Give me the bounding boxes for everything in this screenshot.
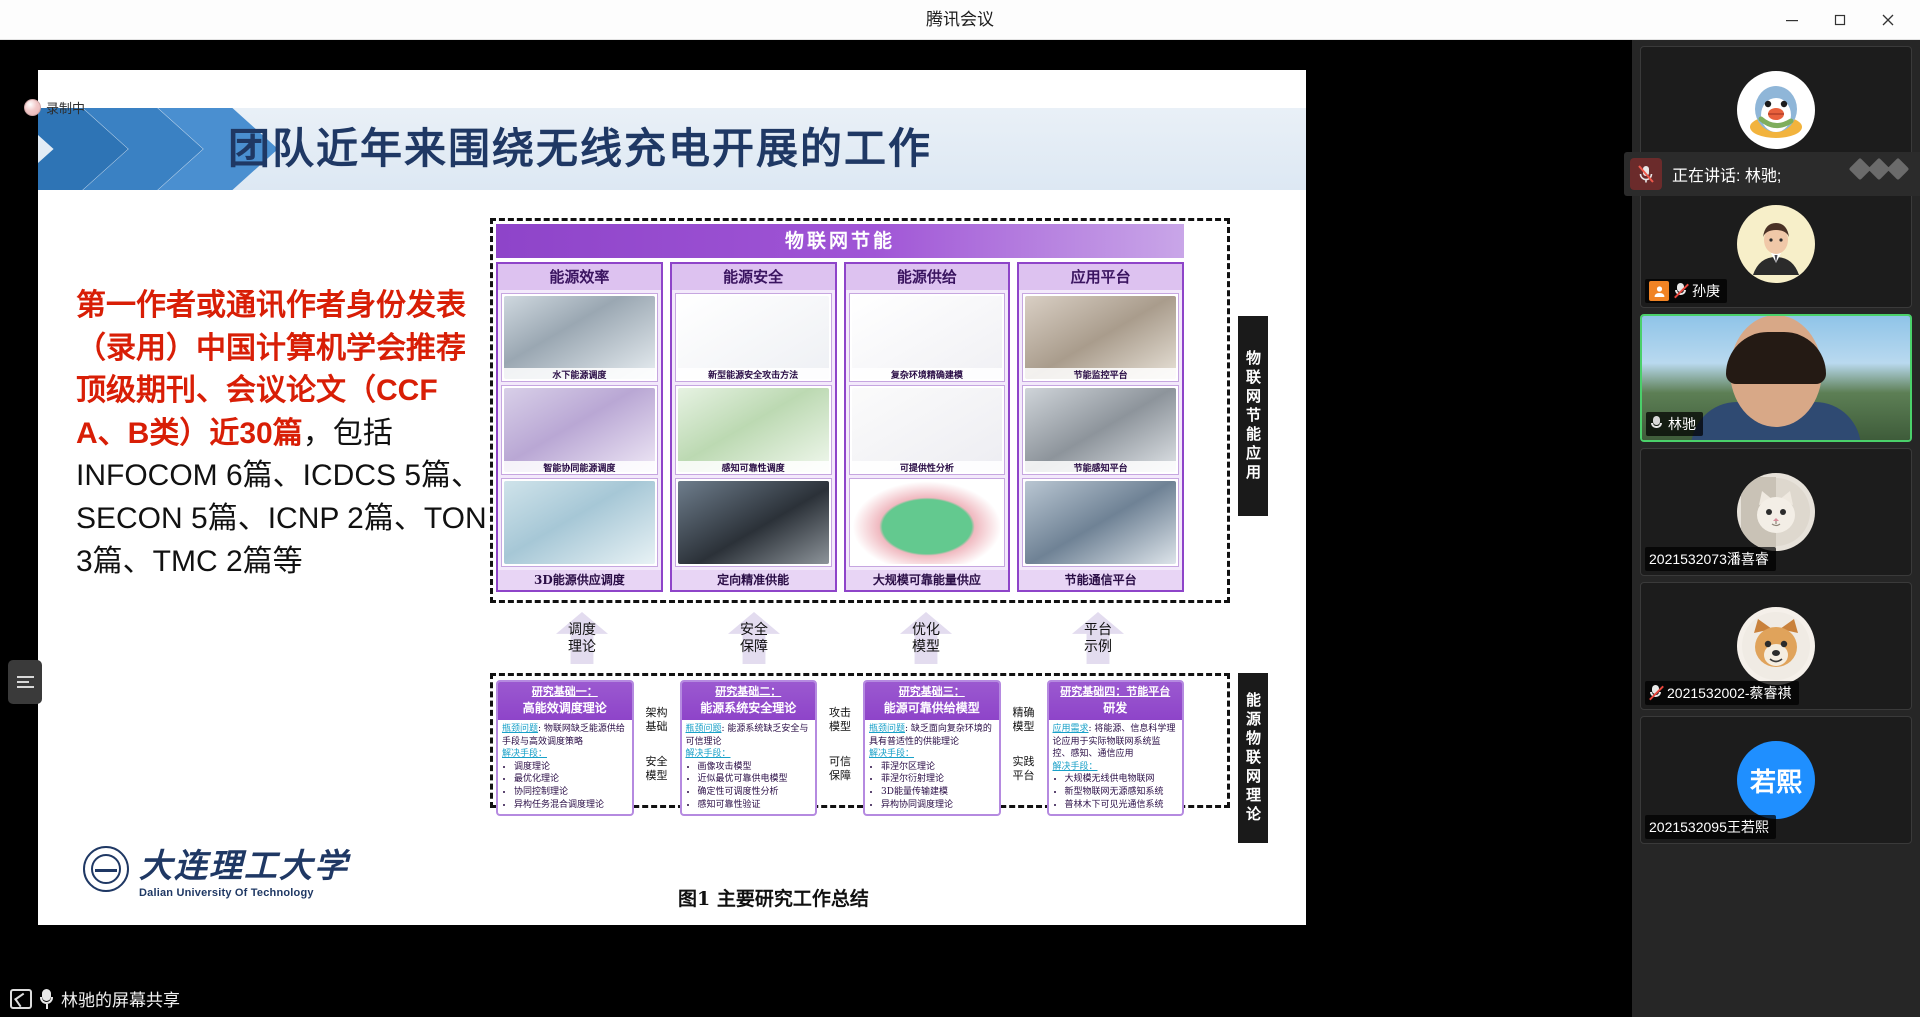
maximize-button[interactable] [1818, 3, 1862, 37]
diagram-image-cell [849, 478, 1006, 567]
participant-name-tag: 林驰 [1646, 412, 1703, 436]
foundation-solution-label: 解决手段： [686, 749, 731, 759]
participant-name-tag: 孙庚 [1645, 279, 1727, 303]
meeting-stage: 录制中 团队近年来围绕无线充电开展的工作 第一作者或通讯作者身份发表（录用）中国… [0, 40, 1632, 1017]
participant-tile[interactable]: 2021532002-蔡睿祺 [1640, 582, 1912, 710]
cell-caption: 水下能源调度 [502, 368, 657, 381]
avatar [1737, 205, 1815, 283]
cell-caption: 节能监控平台 [1023, 368, 1178, 381]
avatar-initials: 若熙 [1750, 762, 1802, 799]
speaking-banner: 正在讲话: 林驰; [1624, 152, 1920, 196]
slide-title: 团队近年来围绕无线充电开展的工作 [228, 108, 932, 190]
column-header: 能源供给 [846, 264, 1009, 290]
diagram-image-cell: 节能监控平台 [1022, 293, 1179, 382]
foundation-item: 异构协同调度理论 [881, 799, 995, 812]
column-header: 应用平台 [1019, 264, 1182, 290]
column-footer: 3D能源供应调度 [498, 570, 661, 590]
screen-share-icon [10, 989, 32, 1009]
foundation-item: 感知可靠性验证 [698, 799, 812, 812]
column-footer: 大规模可靠能量供应 [846, 570, 1009, 590]
presentation-slide: 团队近年来围绕无线充电开展的工作 第一作者或通讯作者身份发表（录用）中国计算机学… [38, 70, 1306, 925]
minimize-button[interactable] [1770, 3, 1814, 37]
participant-name-tag: 2021532002-蔡睿祺 [1645, 681, 1799, 705]
diagram-image-cell: 节能感知平台 [1022, 385, 1179, 474]
foundation-subtitle: 能源系统安全理论 [684, 700, 814, 716]
annotation-toolbar-button[interactable] [8, 660, 42, 704]
recording-label: 录制中 [46, 98, 85, 117]
participant-tile[interactable]: 2021532073潘喜睿 [1640, 448, 1912, 576]
recording-dot-icon [24, 99, 41, 116]
connector-line2: 模型 [1007, 720, 1041, 734]
participant-name: 2021532095王若熙 [1649, 817, 1769, 837]
diagram-arrow: 调度 理论 [496, 610, 668, 668]
arrow-label-line1: 优化 [912, 622, 940, 638]
participant-tile[interactable]: 孙庚 [1640, 180, 1912, 308]
foundation-item: 普林木下可见光通信系统 [1065, 799, 1179, 812]
screen-share-area[interactable]: 录制中 团队近年来围绕无线充电开展的工作 第一作者或通讯作者身份发表（录用）中国… [0, 40, 1632, 980]
diagram-arrow-row: 调度 理论 安全 保障 优化 [496, 610, 1184, 668]
foundation-item: 新型物联网无源感知系统 [1065, 786, 1179, 799]
participant-name: 林驰 [1668, 414, 1696, 434]
arrow-label-line1: 调度 [568, 622, 596, 638]
arrow-label-line1: 平台 [1084, 622, 1112, 638]
foundation-title: 研究基础二： [684, 685, 814, 700]
foundation-solution-label: 解决手段： [502, 749, 547, 759]
connector-line1: 攻击 [823, 706, 857, 720]
research-foundation-row: 研究基础一： 高能效调度理论 瓶颈问题: 物联网缺乏能源供给手段与高效调度策略 … [496, 680, 1184, 802]
foundation-item: 异构任务混合调度理论 [514, 799, 628, 812]
connector-label-2: 攻击 模型 可信 保障 [823, 680, 857, 783]
recording-indicator: 录制中 [24, 98, 85, 117]
diagram-image-cell: 感知可靠性调度 [675, 385, 832, 474]
connector-label-1: 架构 基础 安全 模型 [640, 680, 674, 783]
menu-lines-icon [17, 673, 34, 691]
cell-caption: 可提供性分析 [850, 461, 1005, 474]
diagram-image-cell: 新型能源安全攻击方法 [675, 293, 832, 382]
audio-wave-icon [1852, 161, 1906, 177]
connector2-line2: 平台 [1007, 769, 1041, 783]
cell-caption: 复杂环境精确建模 [850, 368, 1005, 381]
foundation-title: 研究基础一： [500, 685, 630, 700]
diagram-image-cell: 可提供性分析 [849, 385, 1006, 474]
window-title-bar: 腾讯会议 [0, 0, 1920, 40]
connector-line1: 架构 [640, 706, 674, 720]
connector2-line2: 模型 [640, 769, 674, 783]
diagram-arrow: 平台 示例 [1012, 610, 1184, 668]
share-status-text: 林驰的屏幕共享 [61, 986, 180, 1011]
research-foundation-1: 研究基础一： 高能效调度理论 瓶颈问题: 物联网缺乏能源供给手段与高效调度策略 … [496, 680, 634, 816]
window-controls [1770, 0, 1910, 40]
slide-red-text: 第一作者或通讯作者身份发表（录用）中国计算机学会推荐顶级期刊、会议论文（CCF … [76, 289, 466, 450]
diagram-arrow: 安全 保障 [668, 610, 840, 668]
column-footer: 定向精准供能 [672, 570, 835, 590]
microphone-icon [1650, 416, 1663, 432]
microphone-icon [40, 989, 53, 1009]
foundation-subtitle: 高能效调度理论 [500, 700, 630, 716]
participant-name: 2021532002-蔡睿祺 [1667, 683, 1792, 703]
foundation-item: 大规模无线供电物联网 [1065, 773, 1179, 786]
share-status-bar: 林驰的屏幕共享 [0, 980, 1632, 1017]
column-header: 能源效率 [498, 264, 661, 290]
diagram-column-energy-efficiency: 能源效率 水下能源调度 智能协同能源调度 [496, 262, 663, 592]
window-title: 腾讯会议 [0, 0, 1920, 40]
figure-caption: 图1 主要研究工作总结 [678, 884, 869, 911]
diagram-side-label-bottom: 能源物联网理论 [1238, 673, 1268, 843]
diagram-column-application-platform: 应用平台 节能监控平台 节能感知平台 [1017, 262, 1184, 592]
foundation-title: 研究基础四：节能平台 [1051, 685, 1181, 700]
connector-label-3: 精确 模型 实践 平台 [1007, 680, 1041, 783]
university-logo: 大连理工大学 Dalian University Of Technology [83, 839, 349, 899]
foundation-item: 画像攻击模型 [698, 761, 812, 774]
participant-tile[interactable]: 林驰 [1640, 314, 1912, 442]
research-foundation-3: 研究基础三： 能源可靠供给模型 瓶颈问题: 缺乏面向复杂环境的具有普适性的供能理… [863, 680, 1001, 816]
avatar [1737, 607, 1815, 685]
column-footer: 节能通信平台 [1019, 570, 1182, 590]
cell-caption: 节能感知平台 [1023, 461, 1178, 474]
foundation-item: 菲涅尔区理论 [881, 761, 995, 774]
diagram-image-cell [1022, 478, 1179, 567]
foundation-item: 近似最优可靠供电模型 [698, 773, 812, 786]
university-name-en: Dalian University Of Technology [139, 887, 349, 899]
diagram-image-cell: 智能协同能源调度 [501, 385, 658, 474]
foundation-problem-label: 应用需求 [1053, 724, 1089, 734]
connector2-line2: 保障 [823, 769, 857, 783]
connector-line2: 基础 [640, 720, 674, 734]
foundation-subtitle: 能源可靠供给模型 [867, 700, 997, 716]
participant-name-tag: 2021532095王若熙 [1645, 815, 1776, 839]
foundation-subtitle: 研发 [1051, 700, 1181, 716]
university-seal-icon [83, 846, 129, 892]
foundation-solution-label: 解决手段： [869, 749, 914, 759]
arrow-label-line1: 安全 [740, 622, 768, 638]
connector2-line1: 可信 [823, 755, 857, 769]
column-header: 能源安全 [672, 264, 835, 290]
diagram-image-cell [501, 478, 658, 567]
cell-caption: 感知可靠性调度 [676, 461, 831, 474]
foundation-item: 协同控制理论 [514, 786, 628, 799]
cell-caption: 新型能源安全攻击方法 [676, 368, 831, 381]
arrow-label-line2: 理论 [568, 639, 596, 655]
diagram-side-label-top: 物联网节能应用 [1238, 316, 1268, 516]
diagram-column-energy-security: 能源安全 新型能源安全攻击方法 感知可靠性调度 [670, 262, 837, 592]
diagram-image-cell: 水下能源调度 [501, 293, 658, 382]
participant-name: 孙庚 [1692, 281, 1720, 301]
muted-mic-icon [1649, 685, 1662, 701]
slide-left-text-block: 第一作者或通讯作者身份发表（录用）中国计算机学会推荐顶级期刊、会议论文（CCF … [76, 285, 491, 583]
diagram-header: 物联网节能 [496, 224, 1184, 258]
connector-line2: 模型 [823, 720, 857, 734]
foundation-item: 菲涅尔衍射理论 [881, 773, 995, 786]
diagram-columns: 能源效率 水下能源调度 智能协同能源调度 [496, 262, 1184, 592]
participant-name: 2021532073潘喜睿 [1649, 549, 1769, 569]
foundation-problem-label: 瓶颈问题 [686, 724, 722, 734]
foundation-item: 3D能量传输建模 [881, 786, 995, 799]
foundation-problem-label: 瓶颈问题 [502, 724, 538, 734]
avatar [1737, 473, 1815, 551]
host-badge-icon [1649, 281, 1669, 301]
participant-rail: 正在讲话: 林驰; [1632, 40, 1920, 1017]
research-foundation-2: 研究基础二： 能源系统安全理论 瓶颈问题: 能源系统缺乏安全与可信理论 解决手段… [680, 680, 818, 816]
muted-mic-icon [1630, 158, 1662, 190]
arrow-label-line2: 示例 [1084, 639, 1112, 655]
foundation-title: 研究基础三： [867, 685, 997, 700]
participant-tile[interactable]: 若熙 2021532095王若熙 [1640, 716, 1912, 844]
diagram-image-cell: 复杂环境精确建模 [849, 293, 1006, 382]
diagram-arrow: 优化 模型 [840, 610, 1012, 668]
connector2-line1: 安全 [640, 755, 674, 769]
foundation-item: 确定性可调度性分析 [698, 786, 812, 799]
foundation-problem-label: 瓶颈问题 [869, 724, 905, 734]
connector-line1: 精确 [1007, 706, 1041, 720]
research-foundation-4: 研究基础四：节能平台 研发 应用需求: 将能源、信息科学理论应用于实际物联网系统… [1047, 680, 1185, 816]
foundation-item: 调度理论 [514, 761, 628, 774]
connector2-line1: 实践 [1007, 755, 1041, 769]
avatar [1737, 71, 1815, 149]
arrow-label-line2: 保障 [740, 639, 768, 655]
foundation-item: 最优化理论 [514, 773, 628, 786]
participant-name-tag: 2021532073潘喜睿 [1645, 547, 1776, 571]
avatar: 若熙 [1737, 741, 1815, 819]
close-button[interactable] [1866, 3, 1910, 37]
foundation-solution-label: 解决手段： [1053, 762, 1098, 772]
diagram-column-energy-supply: 能源供给 复杂环境精确建模 可提供性分析 [844, 262, 1011, 592]
research-diagram: 物联网节能 能源效率 水下能源调度 智能协同能源调度 [490, 218, 1230, 808]
diagram-image-cell [675, 478, 832, 567]
university-name-cn: 大连理工大学 [139, 839, 349, 887]
muted-mic-icon [1674, 283, 1687, 299]
arrow-label-line2: 模型 [912, 639, 940, 655]
speaking-text: 正在讲话: 林驰; [1672, 162, 1781, 186]
cell-caption: 智能协同能源调度 [502, 461, 657, 474]
